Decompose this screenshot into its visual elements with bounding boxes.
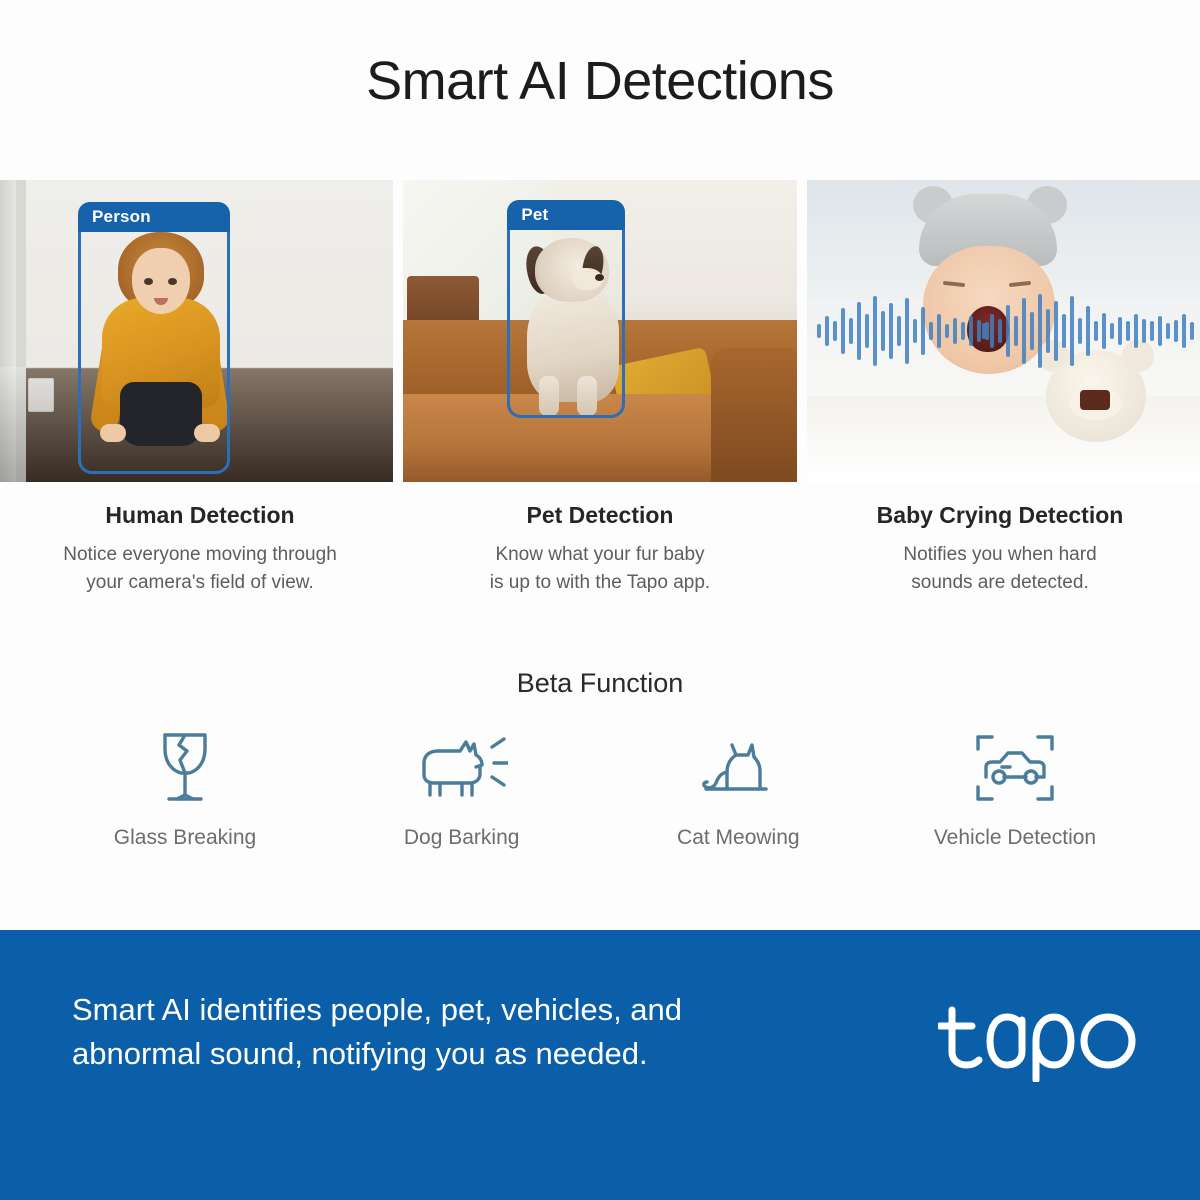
couch-armrest — [711, 348, 797, 482]
caption-description: Notifies you when hard sounds are detect… — [800, 541, 1200, 596]
sound-wave-bar — [1086, 306, 1090, 356]
sound-wave-bar — [817, 324, 821, 338]
beta-item-vehicle-detection[interactable]: Vehicle Detection — [890, 722, 1140, 850]
vehicle-detection-icon — [890, 722, 1140, 814]
sound-wave-bar — [921, 307, 925, 355]
beta-item-label: Dog Barking — [337, 826, 587, 850]
caption-line-1: Notice everyone moving through — [63, 544, 337, 565]
sound-wave-bar — [969, 316, 973, 346]
teddy-mouth — [1080, 390, 1110, 410]
footer-tagline-line-2: abnormal sound, notifying you as needed. — [72, 1036, 648, 1071]
sound-wave-bar — [1182, 314, 1186, 348]
caption-pet-detection: Pet Detection Know what your fur baby is… — [400, 502, 800, 596]
detection-label-person: Person — [78, 202, 230, 232]
photo-baby-crying-detection — [807, 180, 1200, 482]
detection-box-pet: Pet — [507, 200, 625, 418]
caption-line-2: sounds are detected. — [911, 572, 1088, 593]
caption-heading: Human Detection — [0, 502, 400, 529]
smart-ai-detections-page: Smart AI Detections — [0, 0, 1200, 1200]
caption-line-2: is up to with the Tapo app. — [490, 572, 710, 593]
caption-row: Human Detection Notice everyone moving t… — [0, 502, 1200, 596]
sound-wave-bar — [1174, 320, 1178, 342]
sound-wave-bar — [1158, 316, 1162, 346]
sound-wave-bar — [873, 296, 877, 366]
sound-wave-bar — [865, 314, 869, 348]
sound-wave-bar — [945, 324, 949, 338]
footer-tagline: Smart AI identifies people, pet, vehicle… — [72, 988, 832, 1076]
beta-item-cat-meowing[interactable]: Cat Meowing — [613, 722, 863, 850]
caption-description: Know what your fur baby is up to with th… — [400, 541, 800, 596]
sound-wave-bar — [1062, 314, 1066, 348]
caption-baby-crying-detection: Baby Crying Detection Notifies you when … — [800, 502, 1200, 596]
page-title: Smart AI Detections — [0, 50, 1200, 112]
beta-item-dog-barking[interactable]: Dog Barking — [337, 722, 587, 850]
sound-wave-bar — [833, 321, 837, 341]
dog-barking-icon — [337, 722, 587, 814]
tapo-logo — [938, 1002, 1138, 1082]
sound-wave-bar — [1102, 313, 1106, 349]
sound-wave-bar — [1078, 318, 1082, 344]
footer-banner: Smart AI identifies people, pet, vehicle… — [0, 930, 1200, 1200]
sound-wave-bar — [961, 322, 965, 340]
caption-line-1: Notifies you when hard — [903, 544, 1096, 565]
sound-wave-bar — [1046, 309, 1050, 353]
sound-wave-bar — [889, 303, 893, 359]
baby-eye-right — [1009, 281, 1031, 287]
sound-wave-bar — [897, 316, 901, 346]
sound-wave-bar — [1142, 319, 1146, 343]
sound-wave-bar — [1118, 317, 1122, 345]
sound-wave-bar — [1134, 314, 1138, 348]
sound-wave-bar — [1054, 301, 1058, 361]
beta-function-title: Beta Function — [0, 668, 1200, 699]
caption-description: Notice everyone moving through your came… — [0, 541, 400, 596]
sound-wave-bar — [1150, 321, 1154, 341]
sound-wave-right — [982, 292, 1194, 370]
cat-meowing-icon — [613, 722, 863, 814]
sound-wave-bar — [929, 322, 933, 340]
sound-wave-bar — [857, 302, 861, 360]
sound-wave-bar — [937, 314, 941, 348]
sound-wave-bar — [953, 318, 957, 344]
sound-wave-bar — [1166, 323, 1170, 339]
sound-wave-bar — [849, 318, 853, 344]
sound-wave-bar — [913, 319, 917, 343]
detection-box-person: Person — [78, 202, 230, 474]
sound-wave-bar — [990, 314, 994, 348]
sound-wave-left — [817, 292, 989, 370]
sound-wave-bar — [982, 323, 986, 339]
beta-item-label: Glass Breaking — [60, 826, 310, 850]
beta-item-label: Vehicle Detection — [890, 826, 1140, 850]
caption-human-detection: Human Detection Notice everyone moving t… — [0, 502, 400, 596]
caption-heading: Pet Detection — [400, 502, 800, 529]
sound-wave-bar — [881, 311, 885, 351]
sound-wave-bar — [825, 316, 829, 346]
sound-wave-bar — [1014, 316, 1018, 346]
beta-item-glass-breaking[interactable]: Glass Breaking — [60, 722, 310, 850]
sound-wave-bar — [1094, 321, 1098, 341]
sound-wave-bar — [1030, 312, 1034, 350]
detection-photo-row: Person — [0, 180, 1200, 482]
sound-wave-bar — [905, 298, 909, 364]
sound-wave-bar — [1110, 323, 1114, 339]
beta-function-row: Glass Breaking Dog Barking — [60, 722, 1140, 850]
caption-line-2: your camera's field of view. — [86, 572, 314, 593]
sound-wave-bar — [841, 308, 845, 354]
sound-wave-bar — [1190, 322, 1194, 340]
sound-wave-bar — [1070, 296, 1074, 366]
broken-glass-icon — [60, 722, 310, 814]
detection-label-pet: Pet — [507, 200, 625, 230]
sound-wave-bar — [1126, 321, 1130, 341]
caption-line-1: Know what your fur baby — [495, 544, 704, 565]
caption-heading: Baby Crying Detection — [800, 502, 1200, 529]
baby-eye-left — [943, 281, 965, 287]
sound-wave-bar — [998, 319, 1002, 343]
sound-wave-bar — [977, 320, 981, 342]
footer-tagline-line-1: Smart AI identifies people, pet, vehicle… — [72, 992, 682, 1027]
photo-pet-detection: Pet — [403, 180, 796, 482]
beta-item-label: Cat Meowing — [613, 826, 863, 850]
sound-wave-bar — [1022, 298, 1026, 364]
sound-wave-bar — [1038, 294, 1042, 368]
sound-wave-bar — [1006, 305, 1010, 357]
photo-human-detection: Person — [0, 180, 393, 482]
